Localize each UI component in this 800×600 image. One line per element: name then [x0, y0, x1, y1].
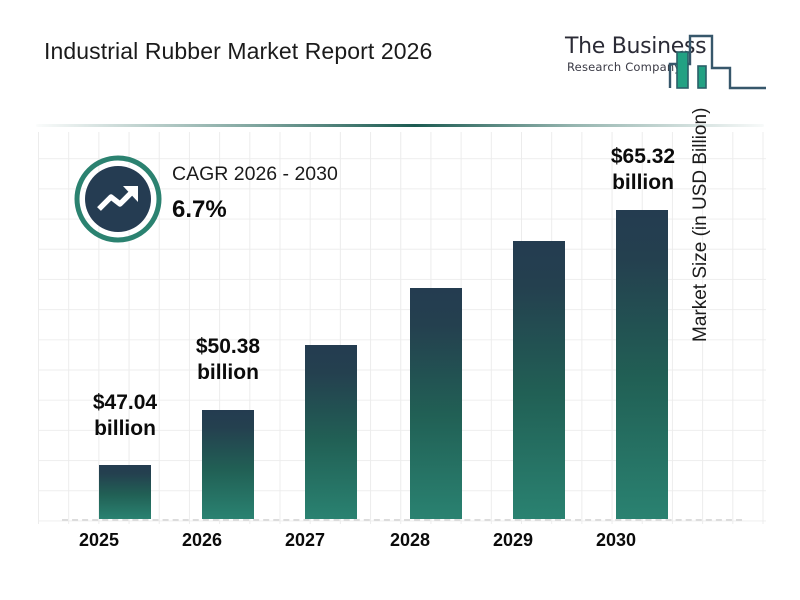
value-label-2030-unit: billion	[583, 170, 703, 196]
chart-page: Industrial Rubber Market Report 2026 The…	[0, 0, 800, 600]
bar-2027[interactable]	[305, 345, 357, 519]
x-axis: 2025 2026 2027 2028 2029 2030	[38, 530, 766, 560]
bar-2025[interactable]	[99, 465, 151, 519]
trending-up-icon	[74, 155, 162, 243]
value-label-2030: $65.32 billion	[583, 144, 703, 195]
x-tick-2030: 2030	[571, 530, 661, 551]
value-label-2030-amount: $65.32	[583, 144, 703, 170]
logo-sub-text: Research Company	[567, 60, 681, 74]
value-label-2025-amount: $47.04	[65, 390, 185, 416]
bar-2026[interactable]	[202, 410, 254, 519]
value-label-2026-amount: $50.38	[168, 334, 288, 360]
x-tick-2029: 2029	[468, 530, 558, 551]
x-tick-2025: 2025	[54, 530, 144, 551]
bar-2028[interactable]	[410, 288, 462, 519]
cagr-period-label: CAGR 2026 - 2030	[172, 163, 338, 186]
y-axis-title: Market Size (in USD Billion)	[690, 42, 712, 342]
cagr-badge: CAGR 2026 - 2030 6.7%	[74, 155, 404, 251]
x-tick-2028: 2028	[365, 530, 455, 551]
header-divider	[36, 124, 764, 127]
cagr-value: 6.7%	[172, 196, 338, 224]
x-tick-2027: 2027	[260, 530, 350, 551]
chart-baseline	[62, 519, 742, 521]
header: Industrial Rubber Market Report 2026 The…	[0, 0, 800, 118]
value-label-2026: $50.38 billion	[168, 334, 288, 385]
company-logo: The Business Research Company	[563, 26, 773, 98]
bar-2030[interactable]	[616, 210, 668, 519]
bar-chart-logo-icon	[668, 26, 768, 98]
value-label-2026-unit: billion	[168, 360, 288, 386]
cagr-text-block: CAGR 2026 - 2030 6.7%	[172, 163, 338, 224]
x-tick-2026: 2026	[157, 530, 247, 551]
value-label-2025: $47.04 billion	[65, 390, 185, 441]
page-title: Industrial Rubber Market Report 2026	[44, 38, 432, 65]
value-label-2025-unit: billion	[65, 416, 185, 442]
bar-2029[interactable]	[513, 241, 565, 519]
